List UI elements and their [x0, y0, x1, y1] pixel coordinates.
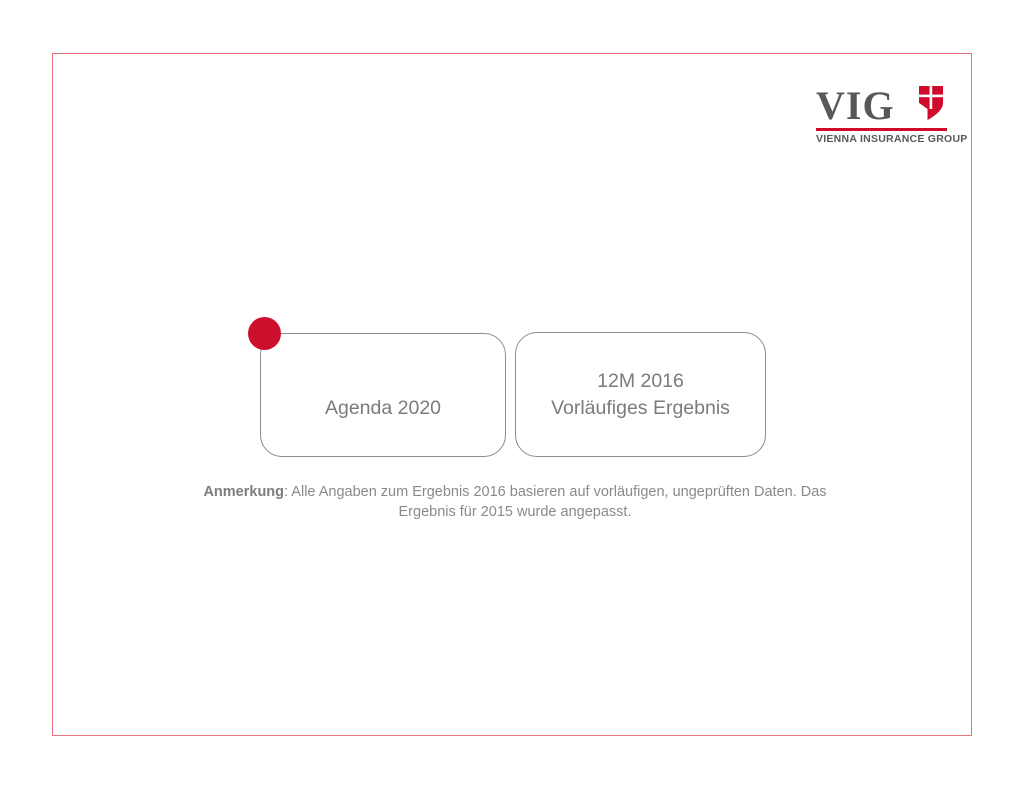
agenda-box-results-12m-2016[interactable]: 12M 2016 Vorläufiges Ergebnis [515, 332, 766, 457]
footnote-anmerkung: Anmerkung: Alle Angaben zum Ergebnis 201… [190, 482, 840, 522]
agenda-box-agenda-2020[interactable]: Agenda 2020 [260, 333, 506, 457]
logo-wordmark: VIG [816, 84, 895, 128]
slide-border [52, 53, 972, 736]
slide-canvas: VIG VIENNA INSURANCE GROUP Agenda 2020 1… [0, 0, 1024, 791]
logo-tagline: VIENNA INSURANCE GROUP [816, 133, 947, 145]
vig-shield-icon [918, 85, 944, 121]
agenda-box-label: Agenda 2020 [325, 369, 441, 422]
agenda-box-label: 12M 2016 Vorläufiges Ergebnis [551, 368, 730, 422]
vig-logo: VIG VIENNA INSURANCE GROUP [816, 84, 948, 146]
footnote-label: Anmerkung [203, 484, 284, 500]
logo-divider-rule [816, 128, 947, 131]
active-section-marker-dot [248, 317, 281, 350]
footnote-text: Alle Angaben zum Ergebnis 2016 basieren … [291, 484, 826, 520]
